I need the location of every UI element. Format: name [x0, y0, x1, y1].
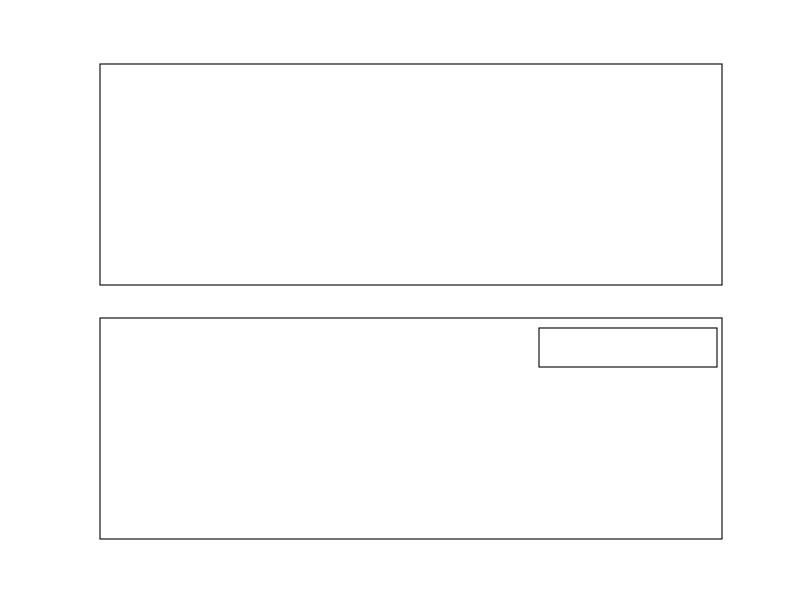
matplotlib-figure — [0, 0, 800, 600]
figure-canvas — [0, 0, 800, 600]
figure-background — [0, 0, 800, 600]
legend[interactable] — [539, 328, 717, 367]
legend-box — [539, 328, 717, 367]
